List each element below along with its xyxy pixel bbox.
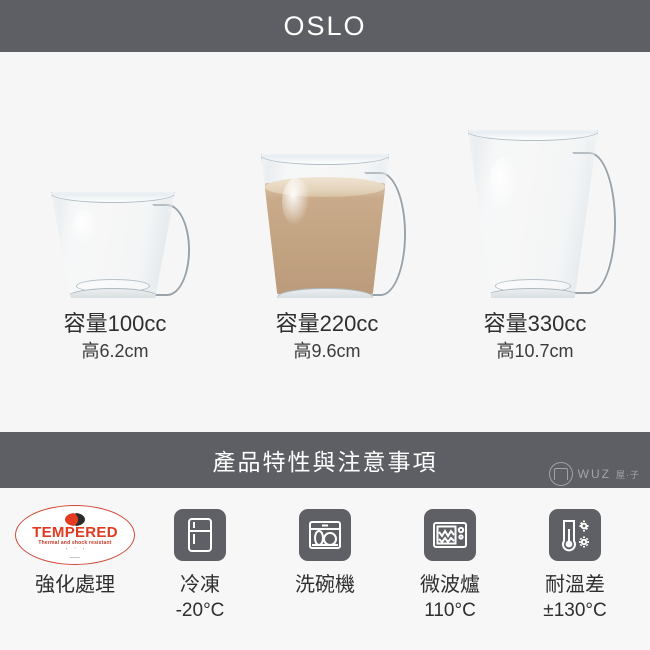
feature-label-microwave: 微波爐 (420, 572, 480, 598)
page-title: OSLO (283, 13, 366, 40)
product-image-small-cup (8, 62, 218, 312)
feature-freezer: 冷凍 -20°C (139, 504, 261, 624)
product-title-bar: OSLO (0, 0, 650, 52)
feature-microwave: 微波爐 110°C (389, 504, 511, 624)
capacity-label-small: 容量100cc 高6.2cm (0, 310, 230, 365)
feature-label-tempered: 強化處理 (35, 572, 115, 598)
watermark-brand: WUZ (578, 467, 611, 481)
glass-highlight (282, 178, 310, 226)
brand-watermark: WUZ 屋·子 (549, 462, 640, 486)
tempered-subtitle: Thermal and shock resistant (38, 540, 111, 547)
refrigerator-icon (174, 504, 226, 566)
feature-temperature-tolerance: 耐溫差 ±130°C (514, 504, 636, 624)
height-value-large: 高10.7cm (420, 338, 650, 365)
capacity-label-medium: 容量220cc 高9.6cm (212, 310, 442, 365)
glass-cup-with-latte-icon (261, 154, 389, 298)
glass-cup-icon (51, 192, 175, 298)
house-circle-logo-icon (549, 462, 573, 486)
height-value-small: 高6.2cm (0, 338, 230, 365)
feature-label-temperature: 耐溫差 (545, 572, 605, 598)
features-row: TEMPERED Thermal and shock resistant 強化處… (0, 490, 650, 650)
feature-tempered: TEMPERED Thermal and shock resistant 強化處… (14, 504, 136, 598)
product-showcase: 容量100cc 高6.2cm 容量220cc 高9.6cm 容量330cc 高1… (0, 52, 650, 432)
tempered-word: TEMPERED (32, 525, 118, 540)
feature-value-freezer: -20°C (176, 598, 225, 624)
feature-label-freezer: 冷凍 (180, 572, 220, 598)
section-header-bar: 產品特性與注意事項 WUZ 屋·子 (0, 432, 650, 488)
capacity-value-medium: 容量220cc (212, 310, 442, 338)
section-title: 產品特性與注意事項 (213, 443, 438, 477)
capacity-value-large: 容量330cc (420, 310, 650, 338)
product-image-large-cup (428, 62, 638, 312)
glass-highlight (489, 158, 517, 214)
dishwasher-icon (299, 504, 351, 566)
cups-row (0, 52, 650, 312)
capacity-value-small: 容量100cc (0, 310, 230, 338)
feature-value-microwave: 110°C (424, 598, 476, 624)
capacity-label-large: 容量330cc 高10.7cm (420, 310, 650, 365)
glass-highlight (72, 210, 99, 245)
tempered-glass-icon (66, 548, 84, 558)
watermark-sub: 屋·子 (616, 468, 640, 481)
feature-value-temperature: ±130°C (543, 598, 606, 624)
product-image-medium-cup (220, 62, 430, 312)
glass-inner-base (495, 279, 572, 293)
microwave-icon (424, 504, 476, 566)
glass-inner-base (76, 279, 149, 293)
tempered-badge-icon: TEMPERED Thermal and shock resistant (15, 504, 135, 566)
product-infographic: OSLO (0, 0, 650, 650)
feature-label-dishwasher: 洗碗機 (295, 572, 355, 598)
thermometer-sun-snowflake-icon (549, 504, 601, 566)
height-value-medium: 高9.6cm (212, 338, 442, 365)
feature-dishwasher: 洗碗機 (264, 504, 386, 598)
